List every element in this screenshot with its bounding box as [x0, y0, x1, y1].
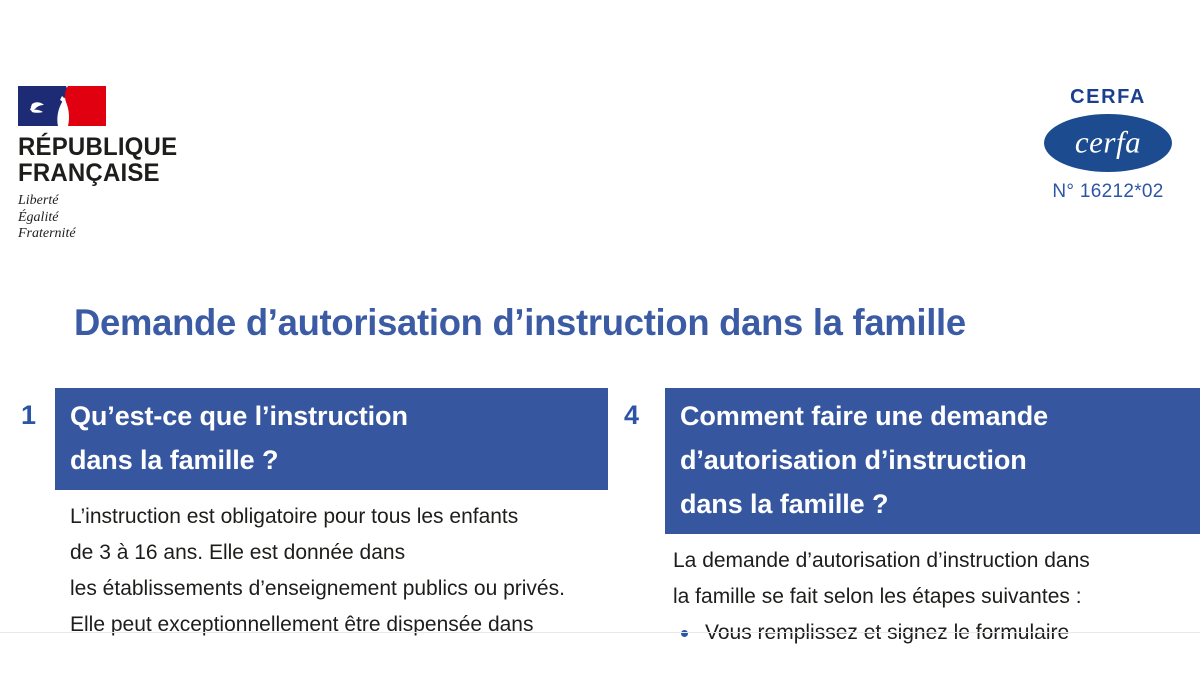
republic-motto: Liberté Égalité Fraternité — [18, 193, 228, 243]
section-1-heading-line1: Qu’est-ce que l’instruction — [70, 394, 594, 438]
section-4: 4 Comment faire une demande d’autorisati… — [608, 388, 1200, 651]
section-1-heading-line2: dans la famille ? — [70, 438, 594, 482]
section-1-body-line2: de 3 à 16 ans. Elle est donnée dans — [70, 535, 602, 571]
section-1-heading: Qu’est-ce que l’instruction dans la fami… — [55, 388, 608, 490]
section-1-header: 1 Qu’est-ce que l’instruction dans la fa… — [0, 388, 612, 490]
cerfa-label: CERFA — [1028, 86, 1188, 108]
list-item: Vous remplissez et signez le formulaire — [673, 615, 1190, 651]
section-4-body-line2: la famille se fait selon les étapes suiv… — [673, 579, 1190, 615]
motto-liberte: Liberté — [18, 193, 228, 210]
section-4-number: 4 — [608, 388, 665, 437]
section-1-number: 1 — [0, 388, 55, 437]
republic-name: RÉPUBLIQUE FRANÇAISE — [18, 134, 220, 186]
motto-egalite: Égalité — [18, 210, 228, 227]
section-4-heading: Comment faire une demande d’autorisation… — [665, 388, 1200, 534]
cerfa-logo-icon: cerfa — [1044, 114, 1172, 172]
section-4-header: 4 Comment faire une demande d’autorisati… — [608, 388, 1200, 534]
section-4-body: La demande d’autorisation d’instruction … — [608, 534, 1200, 651]
section-4-steps-list: Vous remplissez et signez le formulaire — [673, 615, 1190, 651]
cerfa-logo-text: cerfa — [1044, 124, 1172, 160]
section-1-body-line3: les établissements d’enseignement public… — [70, 571, 602, 607]
motto-fraternite: Fraternité — [18, 226, 228, 243]
section-4-heading-line1: Comment faire une demande — [680, 394, 1186, 438]
sections-container: 1 Qu’est-ce que l’instruction dans la fa… — [0, 388, 1200, 700]
page-header: RÉPUBLIQUE FRANÇAISE Liberté Égalité Fra… — [0, 0, 1200, 270]
section-4-body-line1: La demande d’autorisation d’instruction … — [673, 543, 1190, 579]
page-bottom-divider — [0, 632, 1200, 633]
section-1-body: L’instruction est obligatoire pour tous … — [0, 490, 612, 643]
section-1-body-line4: Elle peut exceptionnellement être dispen… — [70, 607, 602, 643]
republic-name-line2: FRANÇAISE — [18, 160, 220, 186]
section-4-heading-line3: dans la famille ? — [680, 482, 1186, 526]
section-1-body-line1: L’instruction est obligatoire pour tous … — [70, 499, 602, 535]
french-flag-marianne-icon — [18, 86, 106, 126]
republic-name-line1: RÉPUBLIQUE — [18, 134, 220, 160]
section-4-heading-line2: d’autorisation d’instruction — [680, 438, 1186, 482]
page-title: Demande d’autorisation d’instruction dan… — [74, 301, 1118, 345]
cerfa-form-number: N° 16212*02 — [1028, 181, 1188, 203]
republique-francaise-logo: RÉPUBLIQUE FRANÇAISE Liberté Égalité Fra… — [18, 86, 228, 243]
cerfa-block: CERFA cerfa N° 16212*02 — [1028, 86, 1188, 203]
section-1: 1 Qu’est-ce que l’instruction dans la fa… — [0, 388, 612, 643]
